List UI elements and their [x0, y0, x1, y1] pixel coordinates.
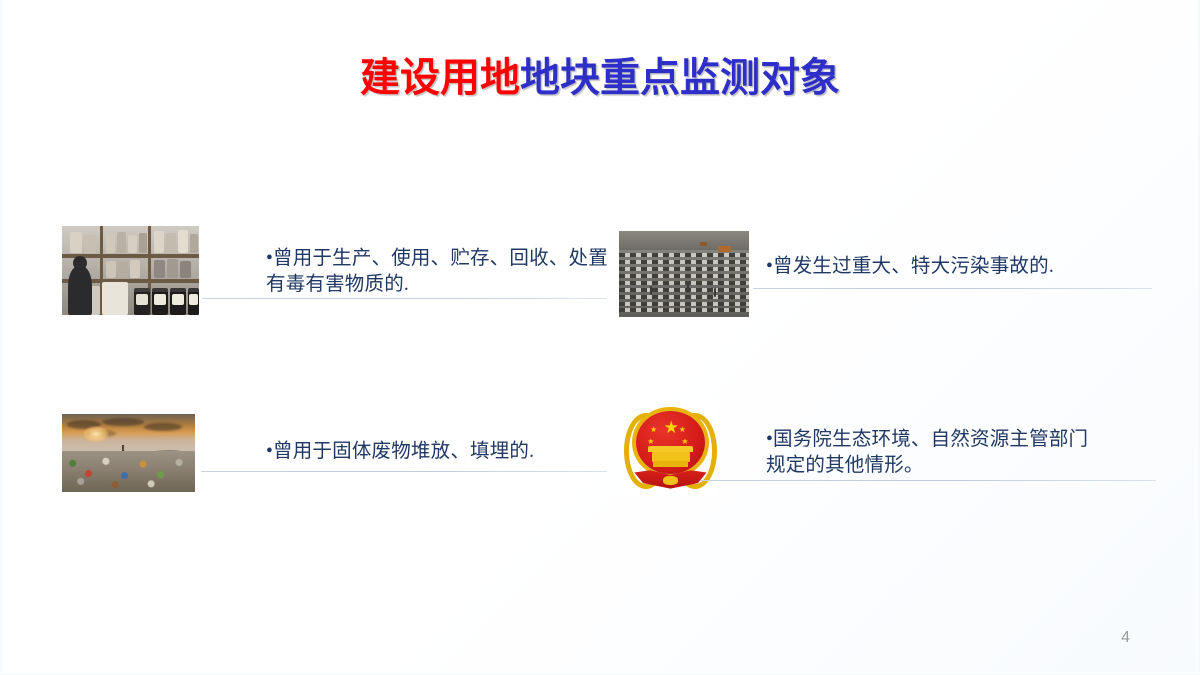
slide-title-blue-part: 地块重点监测对象	[520, 56, 840, 100]
block-underline-toxic-substances	[202, 298, 607, 299]
slide-title: 建设用地地块重点监测对象	[0, 55, 1200, 102]
china-national-emblem: ★ ★ ★ ★ ★	[623, 404, 718, 496]
block-underline-other-circumstances	[700, 480, 1156, 481]
bullet-wrap-other-circumstances: •国务院生态环境、自然资源主管部门 规定的其他情形。	[766, 427, 1136, 478]
content-block-other-circumstances: ★ ★ ★ ★ ★ •国务院生态环境、自然资源主管部门 规定的其他情形。	[623, 404, 1143, 499]
block-underline-solid-waste-landfill	[201, 471, 607, 472]
bullet-text-other-circumstances: •国务院生态环境、自然资源主管部门 规定的其他情形。	[766, 427, 1136, 478]
content-block-solid-waste-landfill: •曾用于固体废物堆放、填埋的.	[62, 414, 607, 496]
page-number: 4	[1121, 629, 1130, 647]
emblem-ribbon-knot	[663, 476, 678, 485]
slide-canvas: 建设用地地块重点监测对象	[0, 0, 1200, 675]
bullet-wrap-toxic-substances: •曾用于生产、使用、贮存、回收、处置 有毒有害物质的.	[266, 246, 618, 297]
content-block-major-pollution-accident: •曾发生过重大、特大污染事故的.	[619, 231, 1139, 321]
content-block-toxic-substances: •曾用于生产、使用、贮存、回收、处置 有毒有害物质的.	[62, 226, 607, 321]
bullet-wrap-solid-waste-landfill: •曾用于固体废物堆放、填埋的.	[266, 439, 626, 465]
bullet-text-solid-waste-landfill: •曾用于固体废物堆放、填埋的.	[266, 439, 626, 465]
slide-title-red-part: 建设用地	[360, 56, 520, 100]
chemical-warehouse-photo	[62, 226, 199, 315]
aerial-disaster-site-photo	[619, 231, 749, 317]
landfill-sunset-photo	[62, 414, 195, 492]
block-underline-major-pollution-accident	[753, 288, 1152, 289]
bullet-text-major-pollution-accident: •曾发生过重大、特大污染事故的.	[766, 254, 1126, 280]
bullet-text-toxic-substances: •曾用于生产、使用、贮存、回收、处置 有毒有害物质的.	[266, 246, 618, 297]
emblem-gate-wall	[653, 461, 687, 467]
bullet-wrap-major-pollution-accident: •曾发生过重大、特大污染事故的.	[766, 254, 1126, 280]
